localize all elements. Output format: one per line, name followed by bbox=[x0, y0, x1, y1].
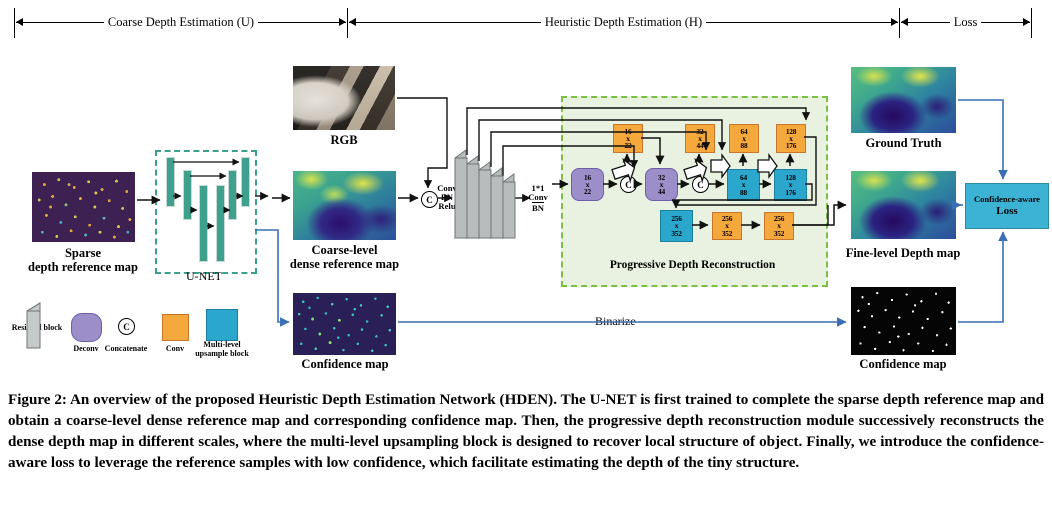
legend-residual-block-icon bbox=[0, 0, 1052, 508]
figure-panel: Coarse Depth Estimation (U) Heuristic De… bbox=[0, 0, 1052, 508]
